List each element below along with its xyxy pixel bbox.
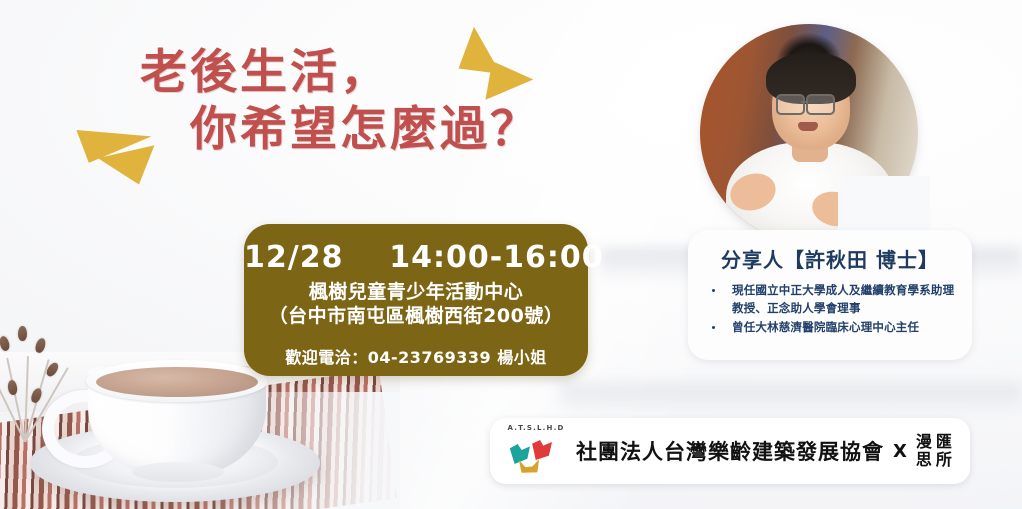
headline-line-1: 老後生活， xyxy=(0,48,620,99)
event-datetime: 12/28 14:00-16:00 xyxy=(244,240,588,275)
event-info-box: 12/28 14:00-16:00 楓樹兒童青少年活動中心 （台中市南屯區楓樹西… xyxy=(244,224,588,376)
speaker-mouth xyxy=(798,122,818,131)
logo-bar: A.T.S.L.H.D 社團法人台灣樂齡建築發展協會 X 漫 匯 思 所 xyxy=(490,418,970,484)
speaker-card: 分享人【許秋田 博士】 現任國立中正大學成人及繼續教育學系助理教授、正念助人學會… xyxy=(688,230,972,360)
glasses-left-lens xyxy=(776,94,805,115)
page-title: 老後生活， 你希望怎麼過？ xyxy=(0,48,620,156)
event-contact: 歡迎電洽：04-23769339 楊小姐 xyxy=(244,344,588,368)
partner-logo: 漫 匯 思 所 xyxy=(916,434,952,469)
speaker-credentials: 現任國立中正大學成人及繼續教育學系助理教授、正念助人學會理事 曾任大林慈濟醫院臨… xyxy=(702,282,958,337)
partner-char-4: 所 xyxy=(936,452,952,469)
background-shadow-band-lower xyxy=(560,384,1022,414)
event-address: （台中市南屯區楓樹西街200號） xyxy=(244,304,588,329)
cup-foot xyxy=(132,462,224,482)
list-item: 曾任大林慈濟醫院臨床心理中心主任 xyxy=(702,319,958,337)
glasses-bridge xyxy=(801,101,806,103)
milk-tea-surface xyxy=(96,367,258,397)
association-name: 社團法人台灣樂齡建築發展協會 xyxy=(576,436,884,466)
event-venue: 楓樹兒童青少年活動中心 xyxy=(244,280,588,305)
glasses-right-lens xyxy=(806,94,835,115)
speaker-name: 分享人【許秋田 博士】 xyxy=(688,244,972,273)
poster-canvas: 老後生活， 你希望怎麼過？ 12/28 14:00-16:00 楓樹兒童青少年活… xyxy=(0,0,1022,509)
partner-char-3: 思 xyxy=(916,452,932,469)
headline-line-2: 你希望怎麼過？ xyxy=(0,105,620,156)
partner-char-1: 漫 xyxy=(916,434,932,451)
partner-char-2: 匯 xyxy=(936,434,952,451)
association-logo-icon: A.T.S.L.H.D xyxy=(504,424,568,478)
list-item: 現任國立中正大學成人及繼續教育學系助理教授、正念助人學會理事 xyxy=(702,282,958,318)
collab-separator: X xyxy=(893,441,907,462)
